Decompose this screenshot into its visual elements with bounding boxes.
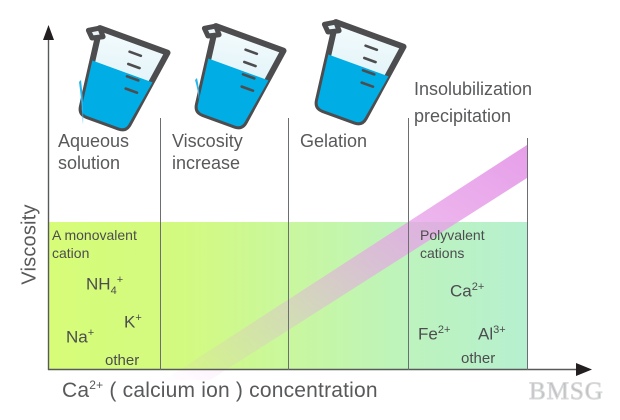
x-axis-label-prefix: Ca [62,379,89,402]
ion-charge: + [88,327,94,339]
monovalent-title-line1: A monovalent [52,226,137,244]
x-axis-label-rest: ( calcium ion ) concentration [109,379,377,402]
divider-2 [288,118,289,370]
ion-al-3plus: Al3+ [478,324,506,345]
x-axis-label-charge: 2+ [89,378,103,392]
polyvalent-title-line2: cations [420,244,485,262]
monovalent-zone-title: A monovalent cation [52,226,137,262]
stage-label-viscosity-increase: Viscosity increase [172,130,243,174]
ion-charge: + [135,312,141,324]
stage-label-line2: solution [58,152,129,174]
ion-base: Ca [450,282,472,301]
ion-charge: 3+ [493,324,506,336]
ion-base: K [124,313,135,332]
ion-na-plus: Na+ [66,327,94,348]
beaker-gelled [296,16,416,133]
divider-3 [408,118,409,370]
stage-label-line1: Gelation [300,130,367,152]
stage-label-line1: Viscosity [172,130,243,152]
beaker-dripping [60,22,180,139]
stage-label-line1: Insolubilization [414,76,532,103]
stage-label-line2: precipitation [414,103,532,130]
polyvalent-zone-title: Polyvalent cations [420,226,485,262]
monovalent-title-line2: cation [52,244,137,262]
x-axis-label: Ca2+ ( calcium ion ) concentration [62,378,378,403]
y-axis-label: Viscosity [19,185,42,305]
polyvalent-title-line1: Polyvalent [420,226,485,244]
ion-k-plus: K+ [124,312,142,333]
stage-label-gelation: Gelation [300,130,367,152]
ion-base: Na [66,328,88,347]
polyvalent-other-label: other [461,350,495,368]
stage-label-line1: Aqueous [58,130,129,152]
beaker-dripping-slow [176,20,296,137]
stage-label-aqueous-solution: Aqueous solution [58,130,129,174]
ion-base: Al [478,325,493,344]
ion-fe-2plus: Fe2+ [418,324,450,345]
divider-4 [527,138,528,370]
bmsg-watermark: BMSG [529,378,604,406]
ion-base: NH [86,275,111,294]
ion-charge: 2+ [472,281,485,293]
ion-ca-2plus: Ca2+ [450,281,484,302]
ion-nh4-plus: NH4+ [86,274,123,297]
ion-base: Fe [418,325,438,344]
divider-1 [160,118,161,370]
ion-subscript: 4 [111,285,117,297]
ion-charge: + [117,274,123,286]
stage-label-insolubilization-precipitation: Insolubilization precipitation [414,76,532,130]
ion-charge: 2+ [438,324,451,336]
stage-label-line2: increase [172,152,243,174]
monovalent-other-label: other [105,352,139,370]
diagram-canvas: Aqueous solution Viscosity increase Gela… [0,0,620,420]
